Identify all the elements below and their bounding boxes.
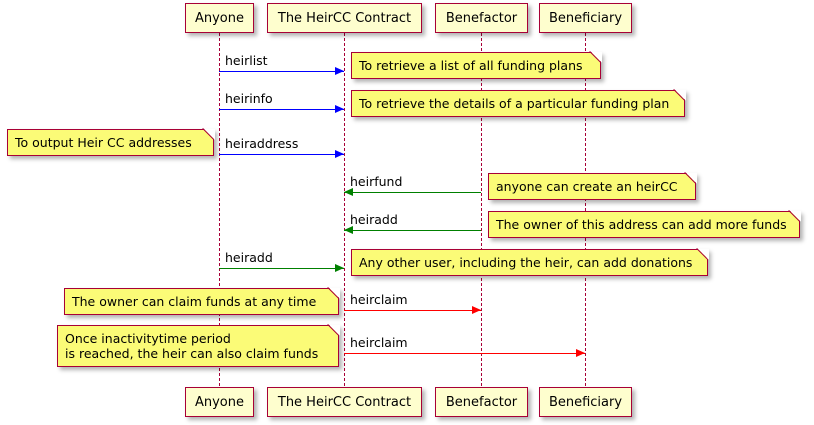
- note-heirinfo[interactable]: To retrieve the details of a particular …: [351, 90, 685, 117]
- participant-label: Benefactor: [446, 396, 517, 409]
- note-corner-fold-icon: [329, 325, 340, 336]
- participant-label: The HeirCC Contract: [278, 396, 411, 409]
- note-text: anyone can create an heirCC: [496, 179, 678, 194]
- message-label-heirfund: heirfund: [350, 175, 402, 189]
- participant-bottom-benefactor[interactable]: Benefactor: [435, 387, 528, 417]
- participant-top-beneficiary[interactable]: Beneficiary: [539, 3, 632, 33]
- arrow-head-heirclaim-1: [472, 306, 481, 314]
- participant-top-anyone[interactable]: Anyone: [185, 3, 254, 33]
- participant-bottom-contract[interactable]: The HeirCC Contract: [267, 387, 422, 417]
- note-text: To retrieve the details of a particular …: [359, 96, 669, 111]
- arrow-head-heiraddress: [335, 150, 344, 158]
- note-heirfund[interactable]: anyone can create an heirCC: [488, 173, 696, 200]
- note-heirclaim-1[interactable]: The owner can claim funds at any time: [64, 288, 339, 315]
- participant-top-benefactor[interactable]: Benefactor: [435, 3, 528, 33]
- message-label-heirclaim-2: heirclaim: [350, 336, 408, 350]
- note-corner-fold-icon: [204, 129, 215, 140]
- arrow-line-heirclaim-1[interactable]: [344, 310, 481, 311]
- message-label-heirclaim-1: heirclaim: [350, 293, 408, 307]
- arrow-head-heirlist: [335, 67, 344, 75]
- participant-bottom-anyone[interactable]: Anyone: [185, 387, 254, 417]
- message-label-heiradd-2: heiradd: [225, 251, 273, 265]
- arrow-line-heirinfo[interactable]: [219, 109, 344, 110]
- note-text: To retrieve a list of all funding plans: [359, 58, 583, 73]
- arrow-line-heirlist[interactable]: [219, 71, 344, 72]
- note-heirlist[interactable]: To retrieve a list of all funding plans: [351, 52, 601, 79]
- note-heiradd-2[interactable]: Any other user, including the heir, can …: [351, 249, 708, 276]
- note-text: Once inactivitytime period is reached, t…: [65, 331, 318, 361]
- arrow-line-heiradd-2[interactable]: [219, 268, 344, 269]
- message-label-heirlist: heirlist: [225, 54, 268, 68]
- note-corner-fold-icon: [698, 249, 709, 260]
- note-corner-fold-icon: [675, 90, 686, 101]
- note-corner-fold-icon: [329, 288, 340, 299]
- arrow-head-heirclaim-2: [576, 349, 585, 357]
- arrow-line-heirfund[interactable]: [344, 192, 481, 193]
- arrow-line-heiradd-1[interactable]: [344, 230, 481, 231]
- note-corner-fold-icon: [686, 173, 697, 184]
- message-label-heirinfo: heirinfo: [225, 92, 273, 106]
- note-corner-fold-icon: [591, 52, 602, 63]
- participant-label: Beneficiary: [549, 12, 622, 25]
- note-heirclaim-2[interactable]: Once inactivitytime period is reached, t…: [57, 325, 339, 367]
- arrow-line-heiraddress[interactable]: [219, 154, 344, 155]
- arrow-head-heiradd-2: [335, 264, 344, 272]
- participant-bottom-beneficiary[interactable]: Beneficiary: [539, 387, 632, 417]
- participant-label: Anyone: [195, 12, 244, 25]
- message-label-heiraddress: heiraddress: [225, 137, 298, 151]
- note-text: To output Heir CC addresses: [15, 135, 192, 150]
- arrow-line-heirclaim-2[interactable]: [344, 353, 585, 354]
- arrow-head-heirinfo: [335, 105, 344, 113]
- participant-top-contract[interactable]: The HeirCC Contract: [267, 3, 422, 33]
- participant-label: Beneficiary: [549, 396, 622, 409]
- note-heiraddress[interactable]: To output Heir CC addresses: [7, 129, 214, 156]
- note-text: Any other user, including the heir, can …: [359, 255, 692, 270]
- lifeline-beneficiary: [585, 33, 586, 386]
- participant-label: Anyone: [195, 396, 244, 409]
- participant-label: The HeirCC Contract: [278, 12, 411, 25]
- note-corner-fold-icon: [790, 211, 801, 222]
- arrow-head-heirfund: [344, 188, 353, 196]
- arrow-head-heiradd-1: [344, 226, 353, 234]
- participant-label: Benefactor: [446, 12, 517, 25]
- note-heiradd-1[interactable]: The owner of this address can add more f…: [488, 211, 800, 238]
- lifeline-benefactor: [481, 33, 482, 386]
- note-text: The owner of this address can add more f…: [496, 217, 787, 232]
- sequence-diagram: AnyoneThe HeirCC ContractBenefactorBenef…: [0, 0, 814, 425]
- message-label-heiradd-1: heiradd: [350, 213, 398, 227]
- lifeline-contract: [344, 33, 345, 386]
- note-text: The owner can claim funds at any time: [72, 294, 316, 309]
